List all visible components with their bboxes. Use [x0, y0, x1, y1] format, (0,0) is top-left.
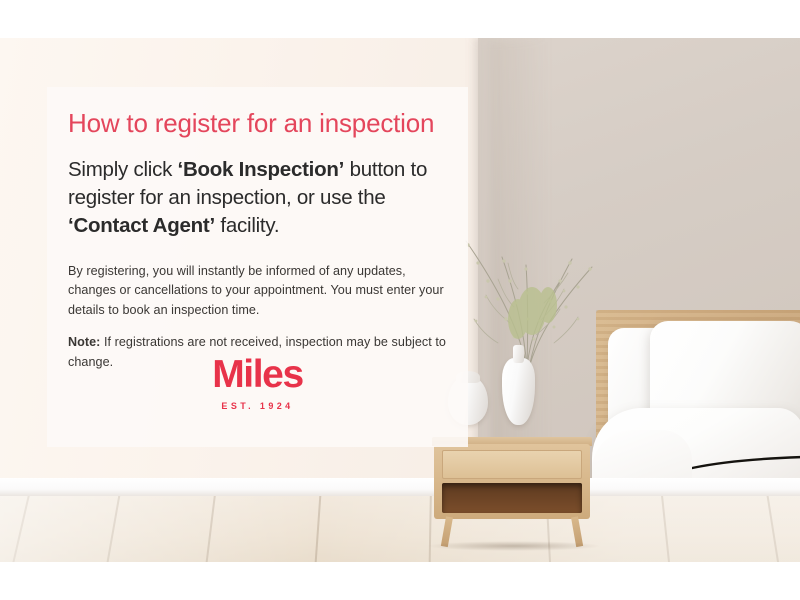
body-paragraph: By registering, you will instantly be in…: [68, 262, 446, 321]
floor-sheen: [0, 496, 800, 562]
lead-text-3: facility.: [215, 214, 279, 237]
nightstand-drawer: [442, 450, 582, 479]
lead-text-1: Simply click: [68, 158, 178, 181]
brand-logo: Miles EST. 1924: [47, 355, 468, 411]
info-card: How to register for an inspection Simply…: [47, 87, 468, 447]
logo-established: EST. 1924: [47, 401, 468, 411]
nightstand-shelf: [442, 483, 582, 513]
baseboard: [0, 478, 800, 498]
logo-wordmark: Miles: [47, 355, 468, 394]
nightstand-shadow: [426, 541, 602, 551]
lead-paragraph: Simply click ‘Book Inspection’ button to…: [68, 156, 446, 241]
contact-agent-emphasis: ‘Contact Agent’: [68, 214, 215, 237]
note-label: Note:: [68, 335, 100, 349]
screenshot-canvas: How to register for an inspection Simply…: [0, 0, 800, 600]
wood-floor: [0, 496, 800, 562]
book-inspection-emphasis: ‘Book Inspection’: [178, 158, 345, 181]
page-title: How to register for an inspection: [68, 109, 446, 139]
